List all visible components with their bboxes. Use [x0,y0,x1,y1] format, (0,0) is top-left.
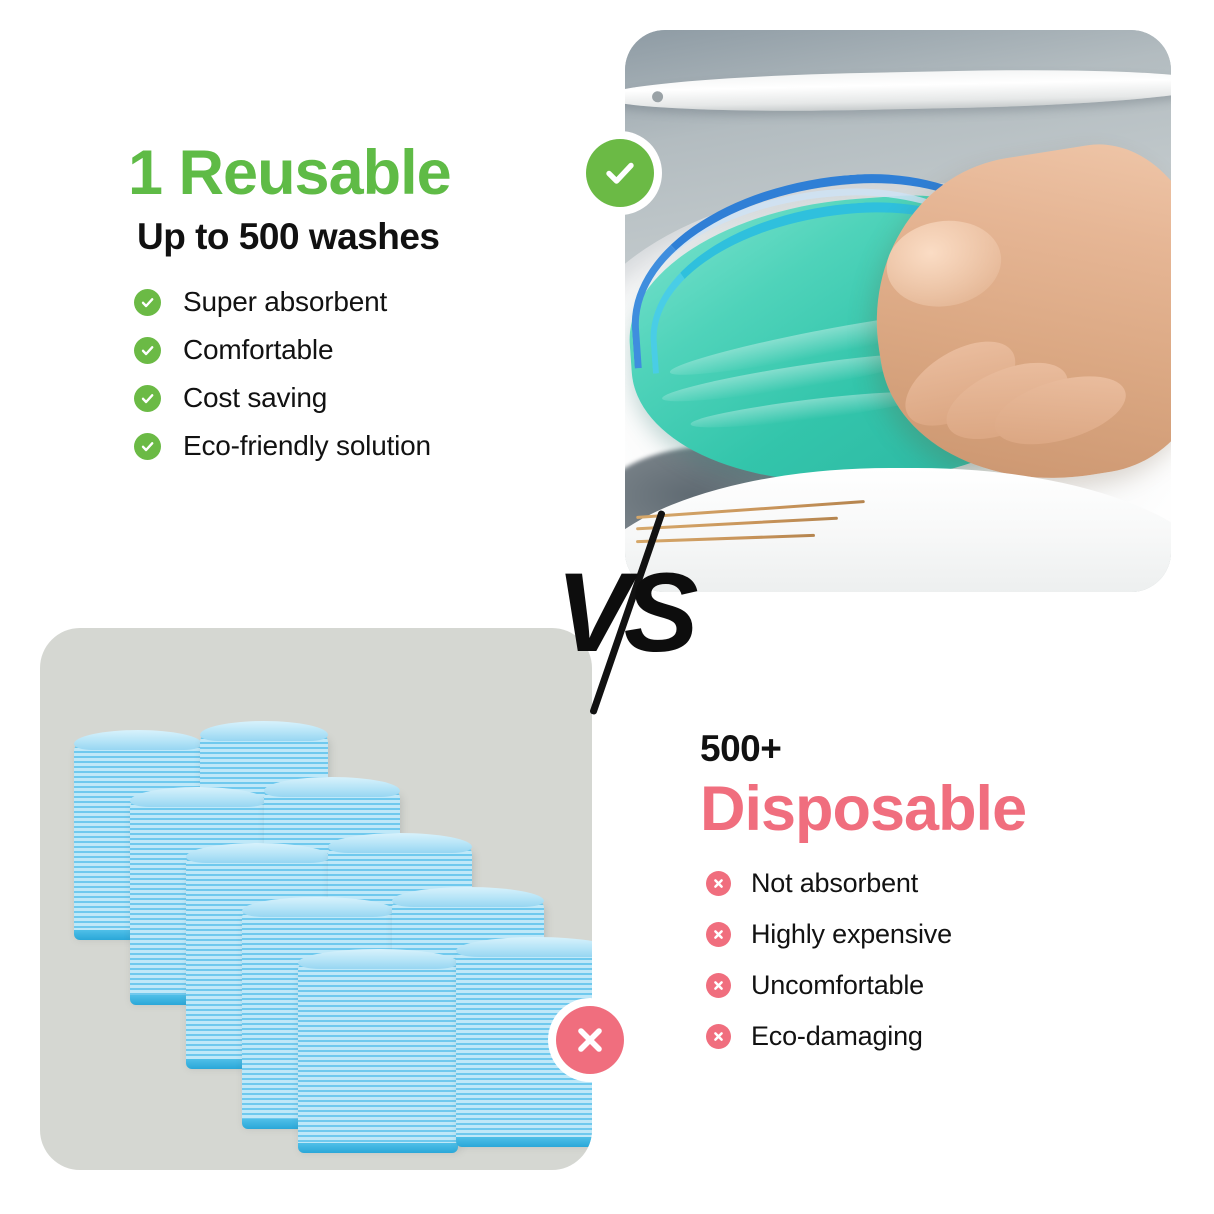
list-item: Eco-damaging [700,1021,1170,1052]
comparison-infographic: VS 1 Reusable Up to 500 washes [0,0,1214,1214]
reusable-subtitle: Up to 500 washes [137,216,578,258]
list-item-label: Cost saving [183,382,327,414]
list-item: Comfortable [128,334,578,366]
list-item-label: Eco-friendly solution [183,430,431,462]
check-icon [134,337,161,364]
reusable-feature-list: Super absorbent Comfortable Cost saving [128,286,578,462]
list-item-label: Eco-damaging [751,1021,923,1052]
disposable-title: Disposable [700,776,1170,842]
reusable-title: 1 Reusable [128,140,578,206]
list-item: Eco-friendly solution [128,430,578,462]
pad-stack-group [40,628,592,1170]
lid-knob [652,91,663,102]
list-item: Super absorbent [128,286,578,318]
list-item-label: Not absorbent [751,868,918,899]
list-item-label: Comfortable [183,334,333,366]
reusable-product-photo [625,30,1171,592]
check-icon [134,289,161,316]
reusable-text-block: 1 Reusable Up to 500 washes Super absorb… [128,140,578,478]
vs-divider: VS [548,505,698,720]
list-item-label: Uncomfortable [751,970,924,1001]
reusable-approved-badge [578,131,662,215]
check-icon [134,385,161,412]
vs-label: VS [556,557,691,669]
list-item: Not absorbent [700,868,1170,899]
list-item: Highly expensive [700,919,1170,950]
disposable-feature-list: Not absorbent Highly expensive Uncomfort… [700,868,1170,1052]
list-item-label: Super absorbent [183,286,387,318]
cross-icon [706,871,731,896]
disposable-count: 500+ [700,728,1170,770]
disposable-rejected-badge [548,998,632,1082]
list-item: Cost saving [128,382,578,414]
cross-icon [706,973,731,998]
cross-circle-icon [556,1006,624,1074]
cross-icon [706,1024,731,1049]
disposable-text-block: 500+ Disposable Not absorbent Highly exp… [700,728,1170,1072]
disposable-product-photo [40,628,592,1170]
check-icon [134,433,161,460]
pad-stack [298,962,458,1148]
list-item-label: Highly expensive [751,919,952,950]
list-item: Uncomfortable [700,970,1170,1001]
check-circle-icon [586,139,654,207]
cross-icon [706,922,731,947]
